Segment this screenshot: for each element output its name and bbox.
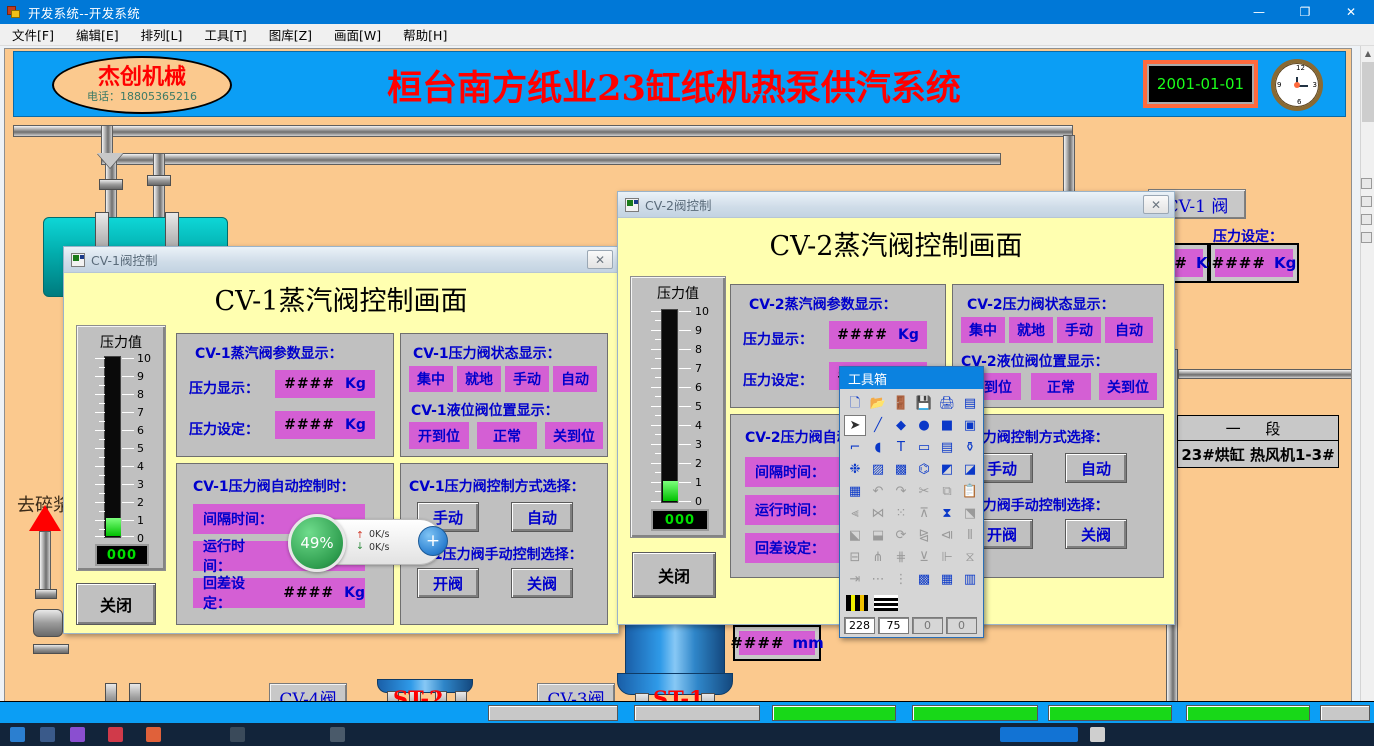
mini-palette-3-icon[interactable] bbox=[1361, 214, 1372, 225]
cv2-position-normal[interactable]: 正常 bbox=[1031, 373, 1091, 400]
cv1-gauge-fill bbox=[106, 518, 121, 536]
same-size-icon[interactable]: ⧖ bbox=[959, 547, 981, 568]
cv2-pressure-set-label: 压力设定： bbox=[743, 370, 813, 390]
minimize-button[interactable]: — bbox=[1236, 0, 1282, 24]
cv2-gauge-scale: 10 9 8 7 6 5 4 3 2 1 0 bbox=[695, 306, 717, 506]
editor-canvas[interactable]: 杰创机械 电话：18805365216 桓台南方纸业23缸纸机热泵供汽系统 20… bbox=[0, 46, 1360, 724]
toolbox-field-2[interactable]: 75 bbox=[878, 617, 909, 634]
speed-values: 0K/s 0K/s bbox=[369, 529, 389, 555]
line-style-swatch-icon[interactable] bbox=[846, 595, 868, 611]
cv2-status-auto[interactable]: 自动 bbox=[1105, 317, 1153, 343]
cv1-pressure-set-value-box[interactable]: #### Kg bbox=[275, 411, 375, 439]
table-icon[interactable]: ▤ bbox=[936, 437, 958, 458]
cv2-pressure-gauge: 压力值 bbox=[630, 276, 726, 538]
level-value: #### bbox=[730, 634, 784, 652]
segment-header: 一 段 bbox=[1178, 416, 1338, 441]
level-unit: mm bbox=[793, 634, 824, 652]
dist-h-icon[interactable]: ⋕ bbox=[890, 547, 912, 568]
analog-clock-icon: 12369 bbox=[1271, 59, 1323, 111]
dots-icon[interactable]: ⋯ bbox=[867, 569, 889, 590]
line-icon[interactable]: ╱ bbox=[867, 415, 889, 436]
mimic-pressure-set-value: #### bbox=[1212, 254, 1266, 272]
cv1-close-button[interactable]: 关闭 bbox=[76, 583, 156, 625]
close-button[interactable]: ✕ bbox=[1328, 0, 1374, 24]
menu-screen[interactable]: 画面[W] bbox=[324, 23, 391, 46]
cv1-gauge-title: 压力值 bbox=[77, 332, 165, 352]
cut-icon[interactable]: ✂ bbox=[913, 481, 935, 502]
nudge-icon[interactable]: ⇥ bbox=[844, 569, 866, 590]
vdots-icon[interactable]: ⋮ bbox=[890, 569, 912, 590]
cv1-gauge-scale: 10 9 8 7 6 5 4 3 2 1 0 bbox=[137, 353, 157, 543]
os-icon-4[interactable] bbox=[108, 727, 123, 742]
os-icon-9[interactable] bbox=[1090, 727, 1105, 742]
toolbox-tool-grid[interactable]: 🗋📂🚪💾🖨▤➤╱◆●■▣⌐◖T▭▤⚱❉▨▩⌬◩◪▦↶↷✂⧉📋⫷⋈⁙⊼⧗⬔⬕⬓⟳⧎… bbox=[840, 389, 983, 592]
menu-edit[interactable]: 编辑[E] bbox=[66, 23, 129, 46]
cv2-dialog-icon bbox=[625, 198, 639, 212]
os-icon-1[interactable] bbox=[10, 727, 25, 742]
menu-library[interactable]: 图库[Z] bbox=[259, 23, 322, 46]
valve-icon-top-left[interactable] bbox=[97, 153, 123, 168]
cv1-pressure-show-value-box[interactable]: #### Kg bbox=[275, 370, 375, 398]
mimic-header-band: 杰创机械 电话：18805365216 桓台南方纸业23缸纸机热泵供汽系统 20… bbox=[13, 51, 1346, 117]
os-icon-2[interactable] bbox=[40, 727, 55, 742]
cv1-status-auto[interactable]: 自动 bbox=[553, 366, 597, 392]
cv1-gauge-ticks-left bbox=[95, 358, 105, 536]
cv2-dialog-titlebar[interactable]: CV-2阀控制 ✕ bbox=[618, 192, 1174, 218]
speed-arrow-icons: ↑ ↓ bbox=[356, 531, 364, 553]
company-logo: 杰创机械 电话：18805365216 bbox=[52, 56, 232, 114]
pipe-top-main bbox=[13, 125, 1073, 137]
color-grid-icon[interactable]: ▦ bbox=[936, 569, 958, 590]
cv1-close-valve-button[interactable]: 关阀 bbox=[511, 568, 573, 598]
network-speed-widget[interactable]: 49% ↑ ↓ 0K/s 0K/s + bbox=[293, 519, 443, 565]
os-icon-6[interactable] bbox=[230, 727, 245, 742]
polyline-icon[interactable]: ⌐ bbox=[844, 437, 866, 458]
flange-pump-top bbox=[35, 589, 57, 599]
cv1-param-title: CV-1蒸汽阀参数显示： bbox=[195, 343, 343, 363]
cv2-close-button[interactable]: 关闭 bbox=[632, 552, 716, 598]
cv1-dialog-close-icon[interactable]: ✕ bbox=[587, 250, 613, 269]
send-back-icon[interactable]: ⬓ bbox=[867, 525, 889, 546]
cv2-auto-title: CV-2压力阀自动 bbox=[745, 427, 851, 447]
mini-palette-2-icon[interactable] bbox=[1361, 196, 1372, 207]
toolbox-field-4[interactable]: 0 bbox=[946, 617, 977, 634]
segment-row: 23#烘缸 热风机1-3# bbox=[1178, 441, 1338, 467]
chart-icon[interactable]: ▩ bbox=[890, 459, 912, 480]
space-v-icon[interactable]: ⋔ bbox=[867, 547, 889, 568]
os-icon-8[interactable] bbox=[1000, 727, 1078, 742]
flange-left-a bbox=[99, 179, 123, 190]
runtime-taskbar[interactable] bbox=[0, 701, 1374, 723]
color-pick-icon[interactable]: ▥ bbox=[959, 569, 981, 590]
palette-icon[interactable]: ▦ bbox=[844, 481, 866, 502]
cv2-position-closed[interactable]: 关到位 bbox=[1099, 373, 1157, 400]
grid-icon[interactable]: ▩ bbox=[913, 569, 935, 590]
taskbar-chip-5[interactable] bbox=[1048, 705, 1172, 721]
company-name: 杰创机械 bbox=[98, 66, 186, 89]
cv1-pressure-show-label: 压力显示： bbox=[189, 378, 259, 398]
os-icon-7[interactable] bbox=[330, 727, 345, 742]
paste-icon[interactable]: 📋 bbox=[959, 481, 981, 502]
pipe-riser-left bbox=[39, 531, 51, 591]
save-icon[interactable]: 💾 bbox=[913, 393, 935, 414]
print-icon[interactable]: 🖨 bbox=[936, 393, 958, 414]
cv1-deadband-row[interactable]: 回差设定： #### Kg bbox=[193, 578, 365, 608]
os-taskbar[interactable] bbox=[0, 723, 1374, 746]
pipe-second-main bbox=[101, 153, 1001, 165]
cv1-status-manual[interactable]: 手动 bbox=[505, 366, 549, 392]
dist-v-icon[interactable]: ⊻ bbox=[913, 547, 935, 568]
upload-rate: 0K/s bbox=[369, 529, 389, 542]
taskbar-chip-1[interactable] bbox=[488, 705, 618, 721]
cv1-status-central[interactable]: 集中 bbox=[409, 366, 453, 392]
cv1-valve-control-dialog[interactable]: CV-1阀控制 ✕ CV-1蒸汽阀控制画面 压力值 bbox=[63, 246, 619, 634]
maximize-button[interactable]: ❐ bbox=[1282, 0, 1328, 24]
download-rate: 0K/s bbox=[369, 542, 389, 555]
toolbox-title: 工具箱 bbox=[840, 367, 983, 389]
scroll-thumb[interactable] bbox=[1362, 62, 1374, 122]
download-arrow-icon: ↓ bbox=[356, 542, 364, 553]
cv2-gauge-ticks-left bbox=[651, 311, 661, 501]
mimic-pressure-set-box[interactable]: #### Kg bbox=[1209, 243, 1299, 283]
speed-percent-circle[interactable]: 49% bbox=[288, 514, 346, 572]
menu-bar: 文件[F] 编辑[E] 排列[L] 工具[T] 图库[Z] 画面[W] 帮助[H… bbox=[0, 24, 1374, 46]
pipe-down-left-b bbox=[153, 153, 165, 221]
menu-file[interactable]: 文件[F] bbox=[2, 23, 64, 46]
menu-arrange[interactable]: 排列[L] bbox=[131, 23, 193, 46]
taskbar-chip-7[interactable] bbox=[1320, 705, 1370, 721]
cv1-auto-title: CV-1压力阀自动控制时： bbox=[193, 476, 355, 496]
cv1-mode-title: CV-1压力阀控制方式选择： bbox=[409, 476, 585, 496]
cv1-gauge-readout: 000 bbox=[95, 544, 149, 566]
mini-palette-4-icon[interactable] bbox=[1361, 232, 1372, 243]
taskbar-chip-6[interactable] bbox=[1186, 705, 1310, 721]
cv2-gauge-title: 压力值 bbox=[631, 283, 725, 303]
cv2-pressure-show-value-box[interactable]: #### Kg bbox=[829, 321, 927, 349]
company-phone: 电话：18805365216 bbox=[87, 90, 197, 103]
cv1-dialog-caption: CV-1阀控制 bbox=[91, 250, 158, 269]
cv2-gauge-fill bbox=[663, 481, 678, 501]
new-file-icon[interactable]: 🗋 bbox=[844, 393, 866, 414]
cv1-dialog-icon bbox=[71, 253, 85, 267]
cv1-gauge-track bbox=[104, 356, 121, 538]
cv2-param-title: CV-2蒸汽阀参数显示： bbox=[749, 294, 897, 314]
group-icon[interactable]: ⧗ bbox=[936, 503, 958, 524]
toolbox-style-row[interactable] bbox=[840, 592, 983, 615]
toolbox-coordinate-fields[interactable]: 2287500 bbox=[840, 615, 983, 639]
align-top-icon[interactable]: ⊼ bbox=[913, 503, 935, 524]
redo-icon[interactable]: ↷ bbox=[890, 481, 912, 502]
taskbar-chip-3[interactable] bbox=[772, 705, 896, 721]
date-display-value: 2001-01-01 bbox=[1147, 64, 1254, 104]
screen-icon[interactable]: ▤ bbox=[959, 393, 981, 414]
cv1-position-title: CV-1液位阀位置显示： bbox=[411, 400, 559, 420]
pump-body bbox=[33, 609, 63, 637]
cv2-dialog-close-icon[interactable]: ✕ bbox=[1143, 195, 1169, 214]
speed-add-button[interactable]: + bbox=[418, 526, 448, 556]
cv2-gauge-track bbox=[661, 309, 678, 503]
copy-icon[interactable]: ⧉ bbox=[936, 481, 958, 502]
taskbar-chip-2[interactable] bbox=[634, 705, 760, 721]
insert-obj-icon[interactable]: ❉ bbox=[844, 459, 866, 480]
tag-icon[interactable]: ◩ bbox=[936, 459, 958, 480]
flange-left-b bbox=[147, 175, 171, 186]
app-icon bbox=[6, 4, 22, 20]
toolbox-field-1[interactable]: 228 bbox=[844, 617, 875, 634]
cv1-heading: CV-1蒸汽阀控制画面 bbox=[64, 279, 618, 318]
bubble-icon[interactable]: ▭ bbox=[913, 437, 935, 458]
flip-v-icon[interactable]: ⧏ bbox=[936, 525, 958, 546]
toolbox-field-3[interactable]: 0 bbox=[912, 617, 943, 634]
rounded-rect-icon[interactable]: ▣ bbox=[959, 415, 981, 436]
ellipse-icon[interactable]: ● bbox=[913, 415, 935, 436]
application-window: 开发系统--开发系统 — ❐ ✕ 文件[F] 编辑[E] 排列[L] 工具[T]… bbox=[0, 0, 1374, 746]
text-icon[interactable]: T bbox=[890, 437, 912, 458]
mimic-title: 桓台南方纸业23缸纸机热泵供汽系统 bbox=[264, 58, 1084, 112]
os-icon-5[interactable] bbox=[146, 727, 161, 742]
arrow-up-crusher bbox=[29, 505, 61, 531]
cv1-mode-auto-button[interactable]: 自动 bbox=[511, 502, 573, 532]
mirror-icon[interactable]: ⦀ bbox=[959, 525, 981, 546]
polygon-icon[interactable]: ◆ bbox=[890, 415, 912, 436]
cv2-dialog-caption: CV-2阀控制 bbox=[645, 195, 712, 214]
pump-base bbox=[33, 644, 69, 654]
image-icon[interactable]: ▨ bbox=[867, 459, 889, 480]
toolbox-palette[interactable]: 工具箱 🗋📂🚪💾🖨▤➤╱◆●■▣⌐◖T▭▤⚱❉▨▩⌬◩◪▦↶↷✂⧉📋⫷⋈⁙⊼⧗⬔… bbox=[839, 366, 984, 638]
window-title: 开发系统--开发系统 bbox=[28, 3, 140, 22]
canvas-vertical-scrollbar[interactable]: ▲ ▼ bbox=[1360, 46, 1374, 724]
align-right-icon[interactable]: ⁙ bbox=[890, 503, 912, 524]
cv1-open-valve-button[interactable]: 开阀 bbox=[417, 568, 479, 598]
undo-icon[interactable]: ↶ bbox=[867, 481, 889, 502]
cv2-status-title: CV-2压力阀状态显示： bbox=[967, 294, 1115, 314]
cv2-mode-auto-button[interactable]: 自动 bbox=[1065, 453, 1127, 483]
align-center-icon[interactable]: ⋈ bbox=[867, 503, 889, 524]
pipe-right-branch bbox=[1178, 369, 1352, 379]
cv1-position-closed[interactable]: 关到位 bbox=[545, 422, 603, 449]
cv1-position-open[interactable]: 开到位 bbox=[409, 422, 469, 449]
mini-palette-1-icon[interactable] bbox=[1361, 178, 1372, 189]
window-titlebar: 开发系统--开发系统 — ❐ ✕ bbox=[0, 0, 1374, 24]
script-icon[interactable]: ⌬ bbox=[913, 459, 935, 480]
date-display-box: 2001-01-01 bbox=[1143, 60, 1258, 108]
align-left-icon[interactable]: ⫷ bbox=[844, 503, 866, 524]
taskbar-chip-4[interactable] bbox=[912, 705, 1038, 721]
cv1-pressure-set-label: 压力设定： bbox=[189, 419, 259, 439]
fill-pattern-swatch-icon[interactable] bbox=[874, 595, 898, 611]
level-value-box[interactable]: #### mm bbox=[733, 625, 821, 661]
tag2-icon[interactable]: ◪ bbox=[959, 459, 981, 480]
arc-icon[interactable]: ◖ bbox=[867, 437, 889, 458]
pointer-icon[interactable]: ➤ bbox=[844, 415, 866, 436]
cv1-gauge-ticks-right bbox=[122, 358, 134, 536]
cv1-status-title: CV-1压力阀状态显示： bbox=[413, 343, 561, 363]
cv1-dialog-body: CV-1蒸汽阀控制画面 压力值 bbox=[64, 273, 618, 633]
cv2-status-manual[interactable]: 手动 bbox=[1057, 317, 1101, 343]
cv2-status-central[interactable]: 集中 bbox=[961, 317, 1005, 343]
segment-info-table: 一 段 23#烘缸 热风机1-3# bbox=[1177, 415, 1339, 468]
cv1-status-local[interactable]: 就地 bbox=[457, 366, 501, 392]
same-width-icon[interactable]: ⊩ bbox=[936, 547, 958, 568]
cv2-close-valve-button[interactable]: 关阀 bbox=[1065, 519, 1127, 549]
menu-help[interactable]: 帮助[H] bbox=[393, 23, 457, 46]
cv2-heading: CV-2蒸汽阀控制画面 bbox=[618, 224, 1174, 263]
symbol-icon[interactable]: ⚱ bbox=[959, 437, 981, 458]
cv1-status-panel: CV-1压力阀状态显示： 集中 就地 手动 自动 CV-1液位阀位置显示： 开到… bbox=[400, 333, 608, 457]
cv2-gauge-ticks-right bbox=[679, 311, 691, 501]
cv1-position-normal[interactable]: 正常 bbox=[477, 422, 537, 449]
bring-front-icon[interactable]: ⬕ bbox=[844, 525, 866, 546]
os-icon-3[interactable] bbox=[70, 727, 85, 742]
scroll-up-icon[interactable]: ▲ bbox=[1361, 46, 1374, 61]
speed-rates: ↑ ↓ 0K/s 0K/s bbox=[356, 529, 389, 555]
cv1-dialog-titlebar[interactable]: CV-1阀控制 ✕ bbox=[64, 247, 618, 273]
rectangle-icon[interactable]: ■ bbox=[936, 415, 958, 436]
cv2-pressure-show-label: 压力显示： bbox=[743, 329, 813, 349]
space-h-icon[interactable]: ⊟ bbox=[844, 547, 866, 568]
ungroup-icon[interactable]: ⬔ bbox=[959, 503, 981, 524]
cv1-param-panel: CV-1蒸汽阀参数显示： 压力显示： #### Kg 压力设定： #### Kg bbox=[176, 333, 394, 457]
scada-mimic-diagram[interactable]: 杰创机械 电话：18805365216 桓台南方纸业23缸纸机热泵供汽系统 20… bbox=[4, 48, 1352, 720]
menu-tools[interactable]: 工具[T] bbox=[194, 23, 256, 46]
rotate-icon[interactable]: ⟳ bbox=[890, 525, 912, 546]
open-folder-icon[interactable]: 📂 bbox=[867, 393, 889, 414]
cv1-pressure-gauge: 压力值 bbox=[76, 325, 166, 571]
import-icon[interactable]: 🚪 bbox=[890, 393, 912, 414]
cv2-status-local[interactable]: 就地 bbox=[1009, 317, 1053, 343]
flip-h-icon[interactable]: ⧎ bbox=[913, 525, 935, 546]
cv2-gauge-readout: 000 bbox=[651, 509, 709, 531]
mimic-pressure-set-unit: Kg bbox=[1274, 254, 1296, 272]
